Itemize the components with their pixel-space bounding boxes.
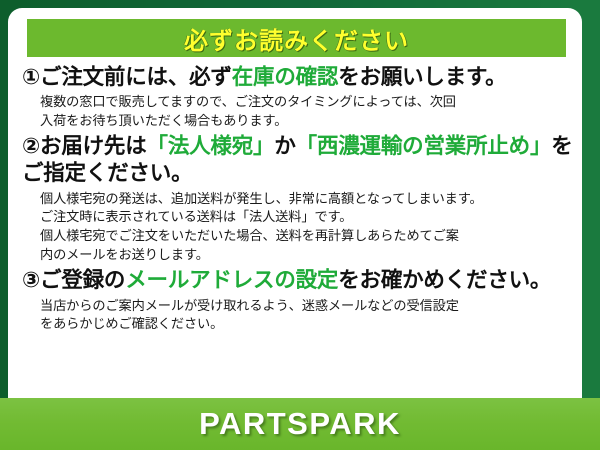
notice-item-3: ③ご登録のメールアドレスの設定をお確かめください。 当店からのご案内メールが受け… <box>22 267 574 335</box>
notice-heading-part: ご登録の <box>40 268 125 292</box>
notice-marker-1: ① <box>22 65 40 89</box>
brand-footer: PARTSPARK <box>0 398 600 450</box>
notice-heading-3: ③ご登録のメールアドレスの設定をお確かめください。 <box>22 267 574 294</box>
notice-heading-1: ①ご注文前には、必ず在庫の確認をお願いします。 <box>22 64 574 91</box>
notice-card: 必ずお読みください ①ご注文前には、必ず在庫の確認をお願いします。 複数の窓口で… <box>8 8 582 408</box>
notice-highlight-seino-depot: 「西濃運輸の営業所止め」 <box>296 134 552 158</box>
notice-heading-part: をお確かめください。 <box>338 268 551 292</box>
notice-subtext-2: 個人様宅宛の発送は、追加送料が発生し、非常に高額となってしまいます。 ご注文時に… <box>40 190 574 265</box>
notice-frame: 必ずお読みください ①ご注文前には、必ず在庫の確認をお願いします。 複数の窓口で… <box>0 0 600 450</box>
notice-heading-part: ご注文前には、必ず <box>40 65 232 89</box>
notice-heading-2: ②お届け先は「法人様宛」か「西濃運輸の営業所止め」をご指定ください。 <box>22 133 574 187</box>
notice-highlight-stock-check: 在庫の確認 <box>232 65 339 89</box>
notice-marker-3: ③ <box>22 268 40 292</box>
title-banner: 必ずお読みください <box>27 19 566 57</box>
notice-item-1: ①ご注文前には、必ず在庫の確認をお願いします。 複数の窓口で販売してますので、ご… <box>22 64 574 131</box>
notice-heading-part: お届け先は <box>40 134 147 158</box>
notice-highlight-corporate-address: 「法人様宛」 <box>147 134 275 158</box>
notice-marker-2: ② <box>22 134 40 158</box>
brand-wordmark: PARTSPARK <box>199 406 401 442</box>
notice-item-2: ②お届け先は「法人様宛」か「西濃運輸の営業所止め」をご指定ください。 個人様宅宛… <box>22 133 574 265</box>
notice-highlight-email-settings: メールアドレスの設定 <box>125 268 338 292</box>
notice-list: ①ご注文前には、必ず在庫の確認をお願いします。 複数の窓口で販売してますので、ご… <box>8 57 582 334</box>
notice-heading-part: をお願いします。 <box>338 65 506 89</box>
notice-heading-part: か <box>274 134 295 158</box>
notice-subtext-1: 複数の窓口で販売してますので、ご注文のタイミングによっては、次回 入荷をお待ち頂… <box>40 93 574 130</box>
page-title: 必ずお読みください <box>184 21 409 56</box>
notice-subtext-3: 当店からのご案内メールが受け取れるよう、迷惑メールなどの受信設定 をあらかじめご… <box>40 297 574 334</box>
